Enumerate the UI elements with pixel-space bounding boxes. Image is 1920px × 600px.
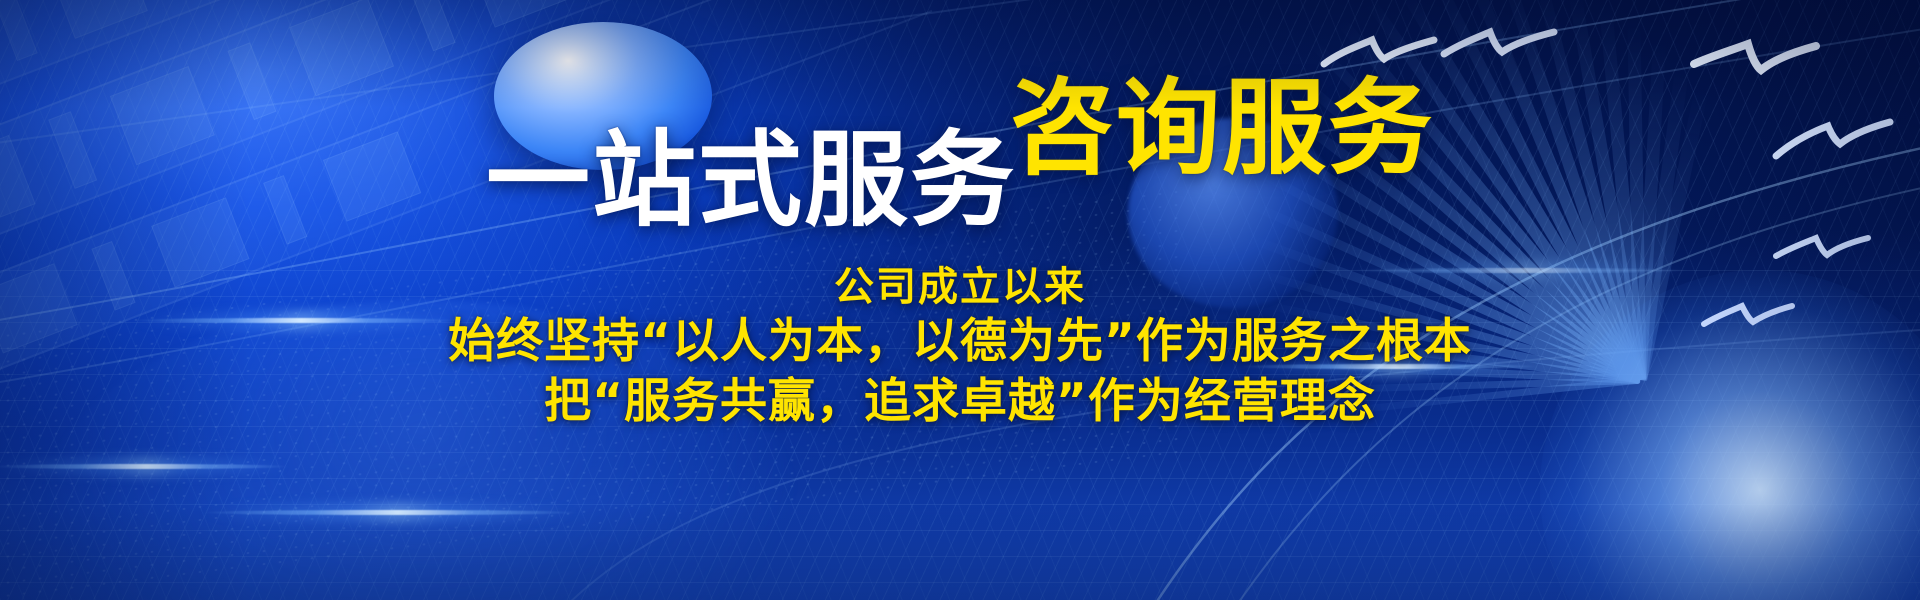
promo-banner: 一站式服务咨询服务 公司成立以来 始终坚持“以人为本，以德为先”作为服务之根本 …	[0, 0, 1920, 600]
body-line-1: 公司成立以来	[0, 262, 1920, 312]
seagull-icon	[1440, 24, 1560, 80]
light-streak	[200, 510, 580, 515]
light-streak	[0, 464, 290, 469]
headline-accent-text: 咨询服务	[1010, 76, 1434, 180]
body-copy: 公司成立以来 始终坚持“以人为本，以德为先”作为服务之根本 把“服务共赢，追求卓…	[0, 262, 1920, 432]
body-line-3: 把“服务共赢，追求卓越”作为经营理念	[0, 372, 1920, 432]
headline: 一站式服务咨询服务	[0, 86, 1920, 190]
body-line-2: 始终坚持“以人为本，以德为先”作为服务之根本	[0, 312, 1920, 372]
headline-primary-text: 一站式服务	[486, 128, 1016, 232]
